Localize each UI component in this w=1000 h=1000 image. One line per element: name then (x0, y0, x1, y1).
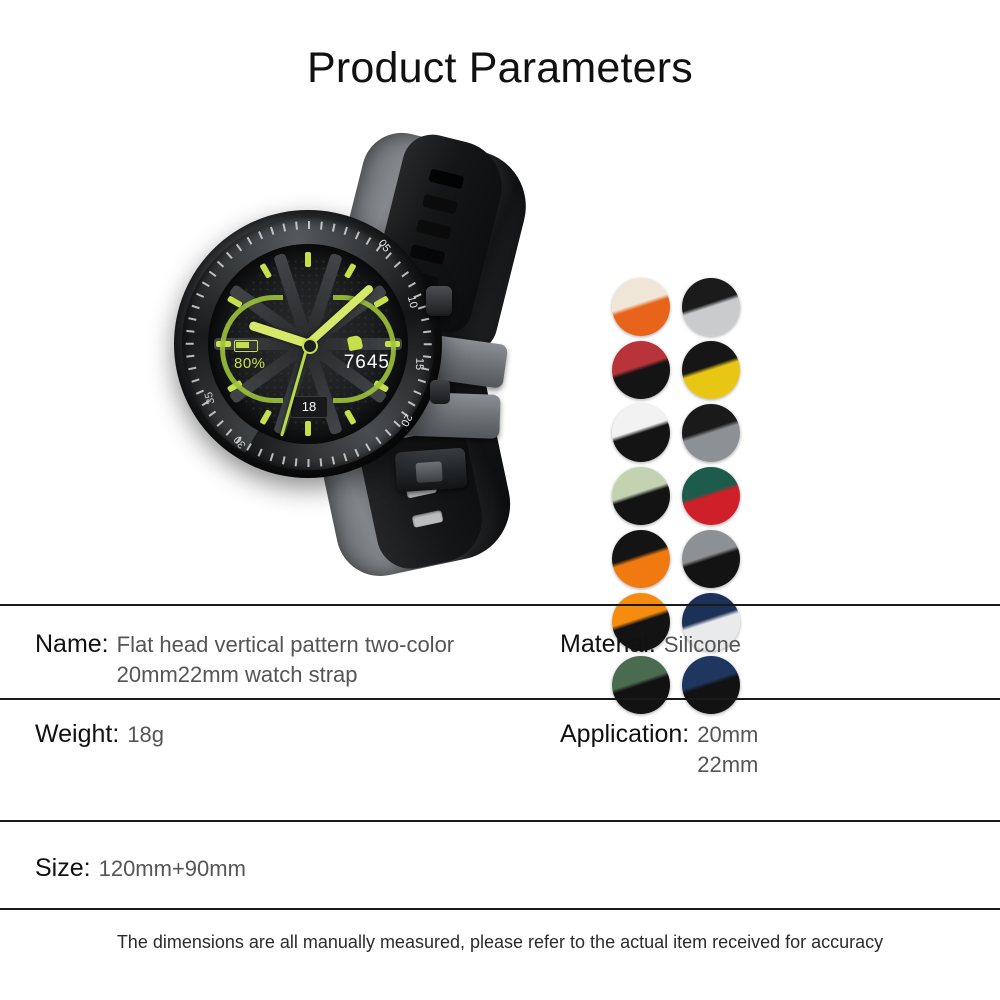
spec-cell-size: Size: 120mm+90mm (35, 854, 246, 884)
spec-value: 20mm 22mm (697, 720, 758, 780)
spec-value: 18g (127, 720, 164, 750)
table-divider (0, 908, 1000, 910)
color-swatch-lightgreen-black[interactable] (612, 467, 670, 525)
table-row: Weight: 18g Application: 20mm 22mm (0, 700, 1000, 820)
color-swatch-black-grey[interactable] (682, 404, 740, 462)
watch-case: 05 10 15 20 30 35 80% (174, 210, 442, 478)
spec-label: Size: (35, 854, 91, 883)
steps-value: 7645 (344, 352, 390, 373)
color-swatch-black-yellow[interactable] (682, 341, 740, 399)
color-swatch-red-black[interactable] (612, 341, 670, 399)
spec-value: 120mm+90mm (99, 854, 246, 884)
center-pin (302, 338, 318, 354)
watch-dial: 80% 7645 18 (208, 244, 408, 444)
product-parameters-page: Product Parameters 05 10 15 20 30 (0, 0, 1000, 1000)
product-image-area: 05 10 15 20 30 35 80% (0, 128, 1000, 588)
spec-cell-name: Name: Flat head vertical pattern two-col… (35, 630, 454, 690)
table-row: Name: Flat head vertical pattern two-col… (0, 606, 1000, 698)
color-swatch-orange-cream[interactable] (612, 278, 670, 336)
steps-complication: 7645 (344, 336, 390, 374)
smartwatch-illustration: 05 10 15 20 30 35 80% (150, 138, 610, 578)
color-swatch-black-silver[interactable] (682, 278, 740, 336)
color-swatch-green-red[interactable] (682, 467, 740, 525)
measurement-disclaimer: The dimensions are all manually measured… (0, 932, 1000, 953)
spec-cell-application: Application: 20mm 22mm (560, 720, 758, 780)
footprint-icon (346, 335, 363, 352)
color-swatch-black-orange[interactable] (612, 530, 670, 588)
spec-label: Weight: (35, 720, 119, 749)
battery-value: 80% (234, 355, 266, 372)
color-swatch-white-black[interactable] (612, 404, 670, 462)
spec-label: Name: (35, 630, 109, 659)
spec-value: Flat head vertical pattern two-color 20m… (117, 630, 455, 690)
specification-table: Name: Flat head vertical pattern two-col… (0, 604, 1000, 910)
spec-label: Material: (560, 630, 656, 659)
strap-buckle (395, 448, 468, 493)
table-row: Size: 120mm+90mm (0, 822, 1000, 908)
color-swatch-grey-black[interactable] (682, 530, 740, 588)
battery-complication: 80% (234, 340, 266, 372)
crown-button-top (426, 286, 452, 316)
spec-cell-weight: Weight: 18g (35, 720, 164, 750)
date-complication: 18 (290, 396, 328, 418)
page-title: Product Parameters (0, 44, 1000, 93)
spec-label: Application: (560, 720, 689, 749)
spec-value: Silicone (664, 630, 741, 660)
crown-button-bottom (430, 380, 450, 404)
battery-icon (234, 340, 258, 352)
spec-cell-material: Material: Silicone (560, 630, 741, 660)
